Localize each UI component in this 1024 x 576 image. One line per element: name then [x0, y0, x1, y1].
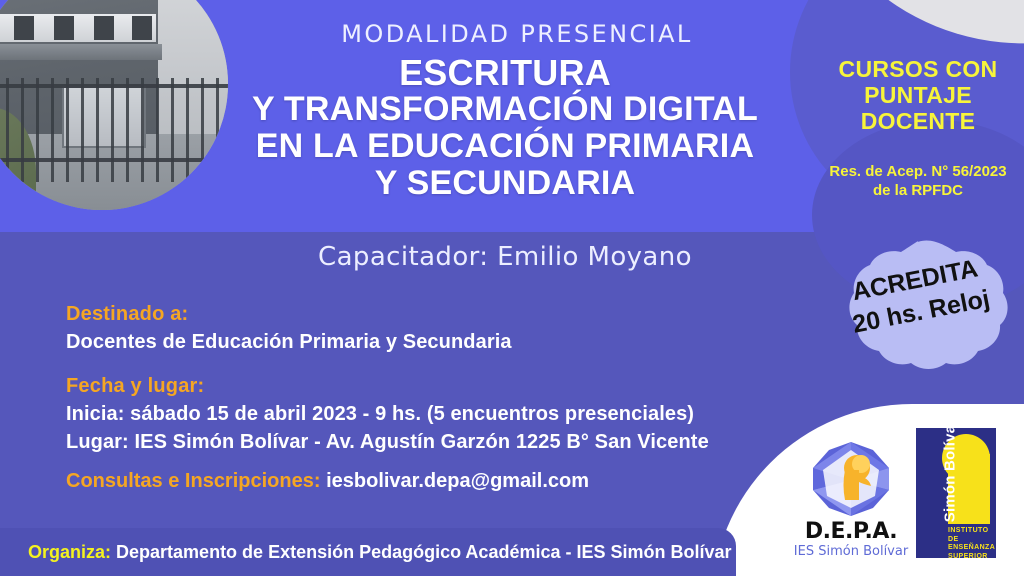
contact-label: Consultas e Inscripciones:: [66, 470, 321, 492]
title-line-3: EN LA EDUCACIÓN PRIMARIA: [170, 128, 840, 165]
depa-emblem-icon: [809, 440, 893, 518]
resolution-text: Res. de Acep. N° 56/2023 de la RPFDC: [818, 162, 1018, 200]
when-where-label: Fecha y lugar:: [66, 372, 766, 400]
sb-logo-name: Simón Bolívar: [942, 413, 959, 529]
sb-sub-line-3: SUPERIOR: [948, 553, 994, 562]
eyebrow-text: MODALIDAD PRESENCIAL: [0, 20, 1024, 48]
accredit-badge: ACREDITA 20 hs. Reloj: [818, 238, 1018, 370]
contact-email[interactable]: iesbolivar.depa@gmail.com: [326, 470, 589, 492]
simon-bolivar-logo: Simón Bolívar INSTITUTO DE ENSEÑANZA SUP…: [916, 428, 996, 558]
organizer-label: Organiza:: [28, 542, 111, 562]
page-title: ESCRITURA Y TRANSFORMACIÓN DIGITAL EN LA…: [170, 54, 840, 202]
badge-line-1: CURSOS CON: [820, 56, 1016, 82]
organizer-text: Organiza: Departamento de Extensión Peda…: [28, 540, 732, 564]
venue-line: Lugar: IES Simón Bolívar - Av. Agustín G…: [66, 428, 766, 456]
sb-sub-line-1: INSTITUTO DE: [948, 527, 994, 544]
badge-cursos-puntaje: CURSOS CON PUNTAJE DOCENTE: [820, 56, 1016, 134]
presenter-text: Capacitador: Emilio Moyano: [170, 242, 840, 272]
audience-value: Docentes de Educación Primaria y Secunda…: [66, 328, 766, 356]
spacer: [66, 356, 766, 372]
resolution-line-1: Res. de Acep. N° 56/2023: [818, 162, 1018, 181]
details-block: Destinado a: Docentes de Educación Prima…: [66, 300, 766, 456]
depa-logo: D.E.P.A. IES Simón Bolívar: [786, 440, 916, 560]
audience-label: Destinado a:: [66, 300, 766, 328]
title-line-1: ESCRITURA: [170, 54, 840, 91]
depa-logo-subtitle: IES Simón Bolívar: [786, 544, 916, 560]
badge-line-3: DOCENTE: [820, 108, 1016, 134]
title-line-4: Y SECUNDARIA: [170, 165, 840, 202]
resolution-line-2: de la RPFDC: [818, 181, 1018, 200]
contact-block: Consultas e Inscripciones: iesbolivar.de…: [66, 468, 589, 494]
start-date-line: Inicia: sábado 15 de abril 2023 - 9 hs. …: [66, 400, 766, 428]
sb-logo-subtitle: INSTITUTO DE ENSEÑANZA SUPERIOR: [948, 527, 994, 561]
sb-sub-line-2: ENSEÑANZA: [948, 544, 994, 553]
organizer-value: Departamento de Extensión Pedagógico Aca…: [116, 542, 732, 562]
poster-canvas: MODALIDAD PRESENCIAL ESCRITURA Y TRANSFO…: [0, 0, 1024, 576]
badge-line-2: PUNTAJE: [820, 82, 1016, 108]
title-line-2: Y TRANSFORMACIÓN DIGITAL: [170, 91, 840, 128]
depa-logo-name: D.E.P.A.: [786, 520, 916, 544]
